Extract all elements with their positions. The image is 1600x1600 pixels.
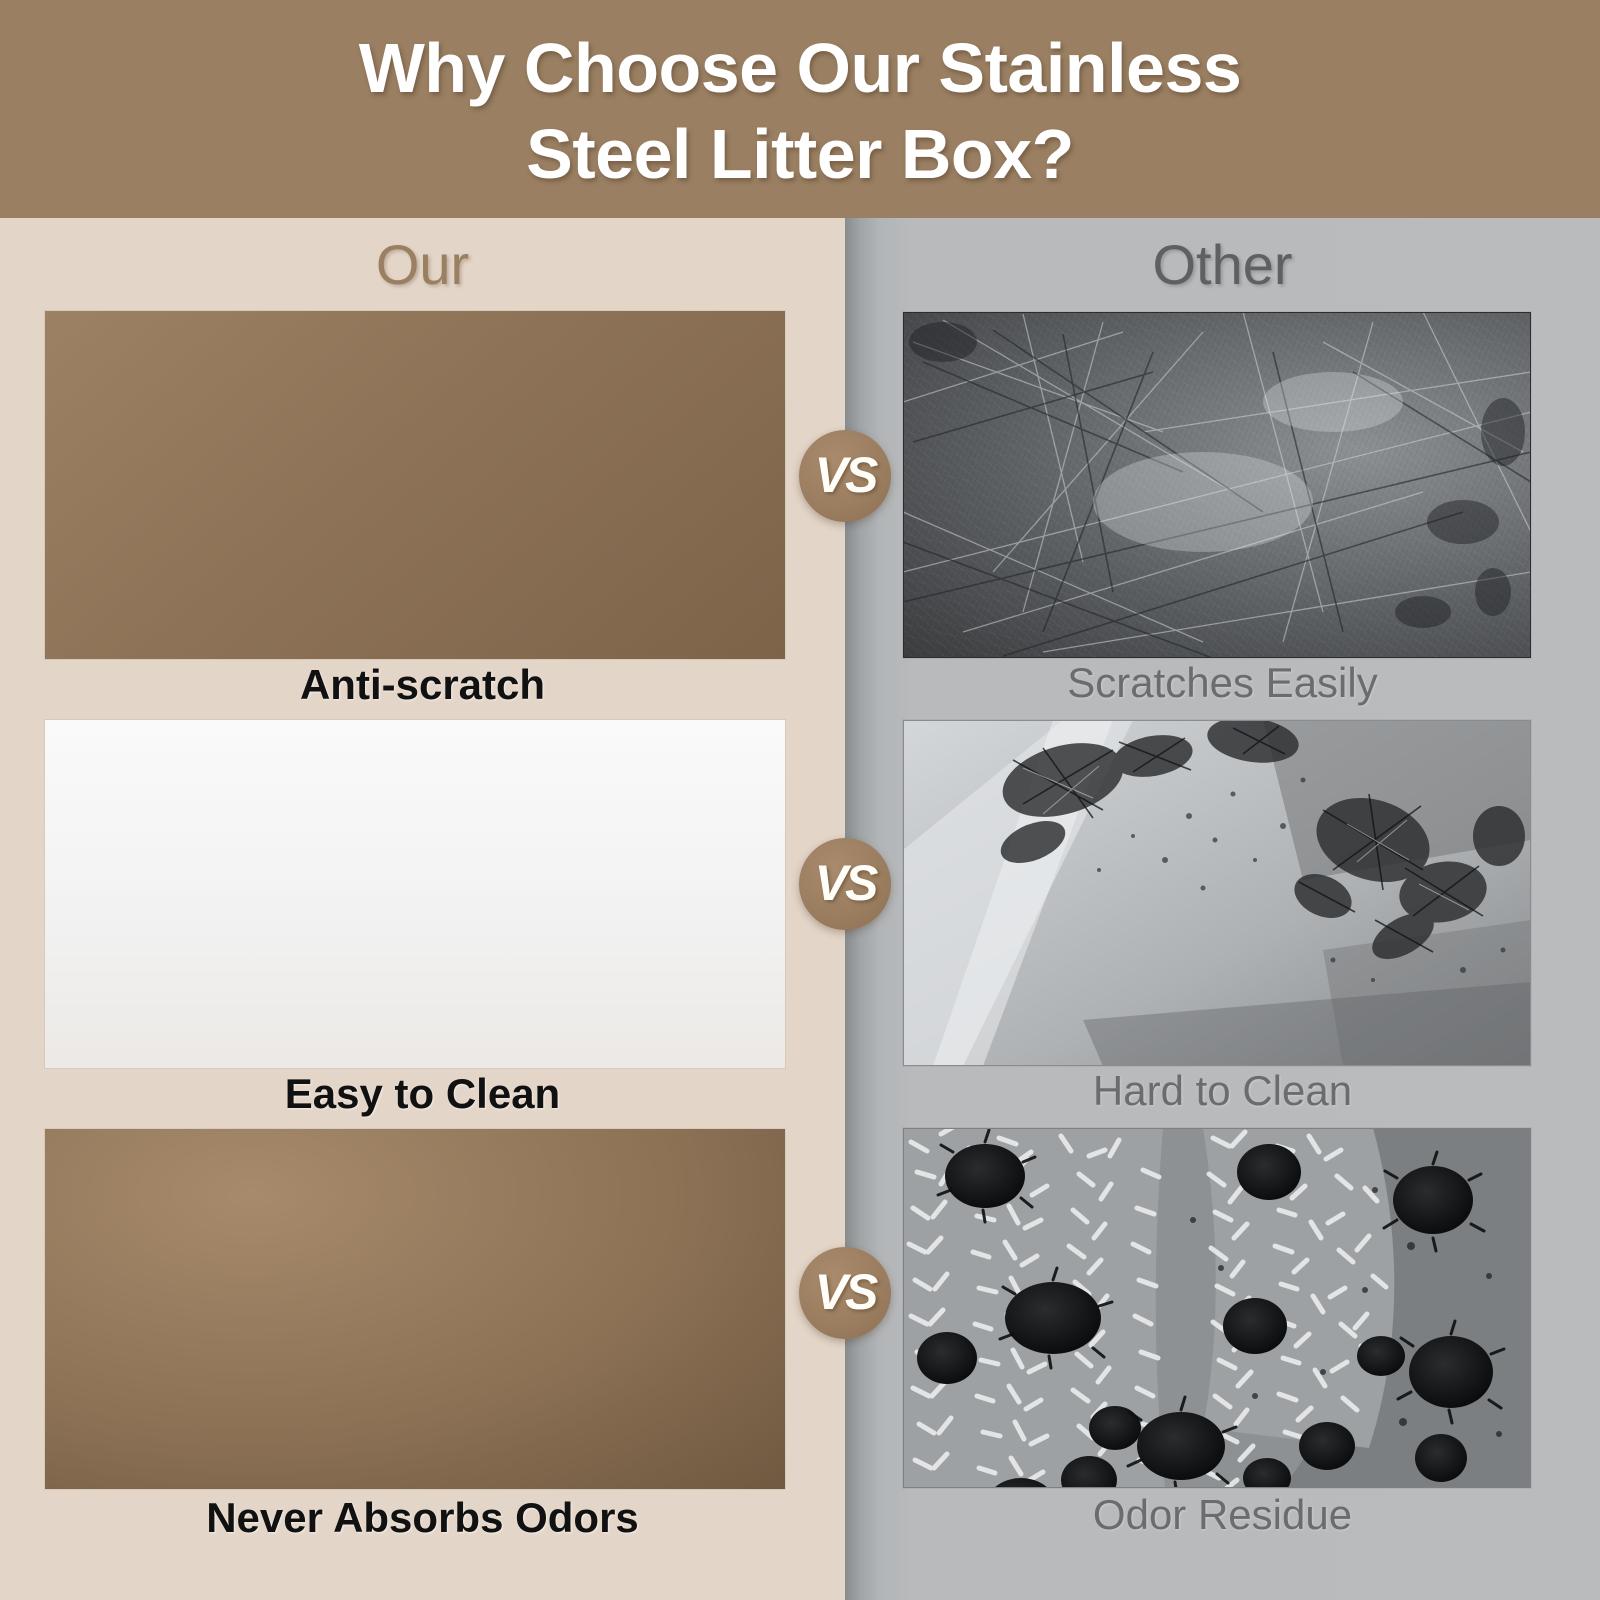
comparison-panels: Our (0, 218, 1600, 1600)
our-image-anti-scratch (45, 311, 785, 659)
vs-badge-label-3: VS (815, 1267, 876, 1317)
other-image-scratches-easily (903, 312, 1531, 658)
vs-badge-label-1: VS (815, 450, 876, 500)
page-title-line-2: Steel Litter Box? (526, 111, 1074, 197)
comparison-infographic: Why Choose Our Stainless Steel Litter Bo… (0, 0, 1600, 1600)
our-label-never-absorbs-odors: Never Absorbs Odors (0, 1493, 845, 1543)
other-column: Other (845, 218, 1600, 1600)
vs-badge-row-3: VS (799, 1247, 891, 1339)
page-title-line-1: Why Choose Our Stainless (359, 25, 1242, 111)
vs-badge-row-2: VS (799, 838, 891, 930)
our-column-title: Our (0, 232, 845, 298)
other-label-scratches-easily: Scratches Easily (845, 658, 1600, 708)
other-label-hard-to-clean: Hard to Clean (845, 1066, 1600, 1116)
other-column-title: Other (845, 232, 1600, 298)
our-column: Our (0, 218, 845, 1600)
other-image-hard-to-clean (903, 720, 1531, 1066)
our-image-easy-to-clean (45, 720, 785, 1068)
our-label-anti-scratch: Anti-scratch (0, 660, 845, 710)
our-label-easy-to-clean: Easy to Clean (0, 1069, 845, 1119)
header-banner: Why Choose Our Stainless Steel Litter Bo… (0, 0, 1600, 218)
other-image-odor-residue (903, 1128, 1531, 1488)
our-image-never-absorbs-odors (45, 1129, 785, 1489)
vs-badge-label-2: VS (815, 858, 876, 908)
vs-badge-row-1: VS (799, 430, 891, 522)
other-label-odor-residue: Odor Residue (845, 1490, 1600, 1540)
